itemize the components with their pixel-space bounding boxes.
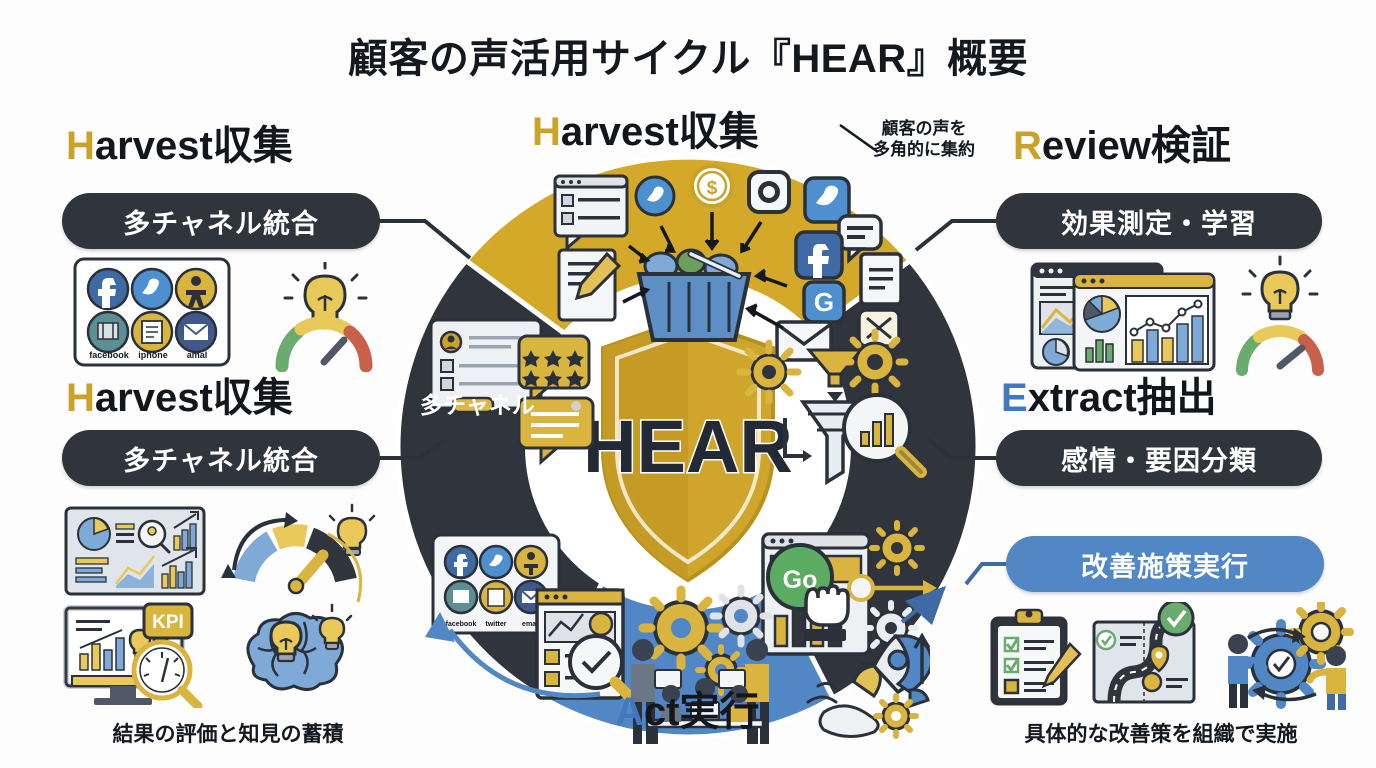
mail-icon [176,312,216,352]
social-label-amal: amal [168,350,226,360]
gauge-icon [1242,331,1318,370]
document-icon [132,312,172,352]
connector-extract [928,440,996,458]
gauge-icon [282,323,366,366]
kpi-monitor-icon: KPI [66,604,198,706]
people-gears-icon [1228,603,1350,710]
gear-icon [876,696,916,736]
review-dashboard-illustration [1014,252,1344,382]
bottom-right-illustration [966,602,1356,715]
donut-inner-label-multichannel: 多チャネル [420,386,535,420]
infographic-root: 顧客の声活用サイクル『HEAR』概要 HEAR [0,0,1376,768]
person-icon [176,269,216,309]
twitter-icon [132,269,172,309]
analytics-window-icon [1074,274,1214,370]
checklist-icon [992,610,1080,704]
connector-review [916,221,996,250]
pill-harvest-1[interactable]: 多チャネル統合 [62,193,380,249]
pie-chart-icon [78,518,110,550]
magnifier-gauge-icon [134,642,198,706]
pill-harvest-2[interactable]: 多チャネル統合 [62,430,380,486]
roadmap-icon [1094,602,1194,702]
arrow-head-feedback [425,612,455,642]
lightbulb-icon [271,622,301,661]
pie-chart-icon [1084,296,1120,332]
caption-bottom-right: 具体的な改善策を組織で実施 [966,718,1356,748]
dashboard-icon [66,508,204,594]
connector-annotation [840,125,878,152]
gauge-arrow-icon [221,512,346,593]
facebook-icon [88,269,128,309]
brain-bulb-icon [248,605,351,690]
pill-act[interactable]: 改善施策実行 [1006,536,1324,592]
rocket-illustration [800,630,930,745]
lightbulb-icon [1243,257,1317,319]
connector-harvest-2 [379,440,444,458]
caption-bottom-left: 結果の評価と知見の蓄積 [58,718,398,748]
insight-gauge-illustration [268,262,383,377]
feedback-arrow [450,630,600,696]
bottom-left-illustration: KPI [58,498,398,713]
connector-harvest-1 [379,221,470,258]
connector-act [966,564,1006,584]
pill-extract[interactable]: 感情・要因分類 [996,430,1322,486]
arrow-head-act [905,586,946,625]
chat-icon [88,312,128,352]
social-icons-card-left: facebook iphone amal [72,256,232,373]
rocket-icon [808,636,930,737]
pill-review[interactable]: 効果測定・学習 [996,193,1322,249]
kpi-label: KPI [152,612,184,633]
